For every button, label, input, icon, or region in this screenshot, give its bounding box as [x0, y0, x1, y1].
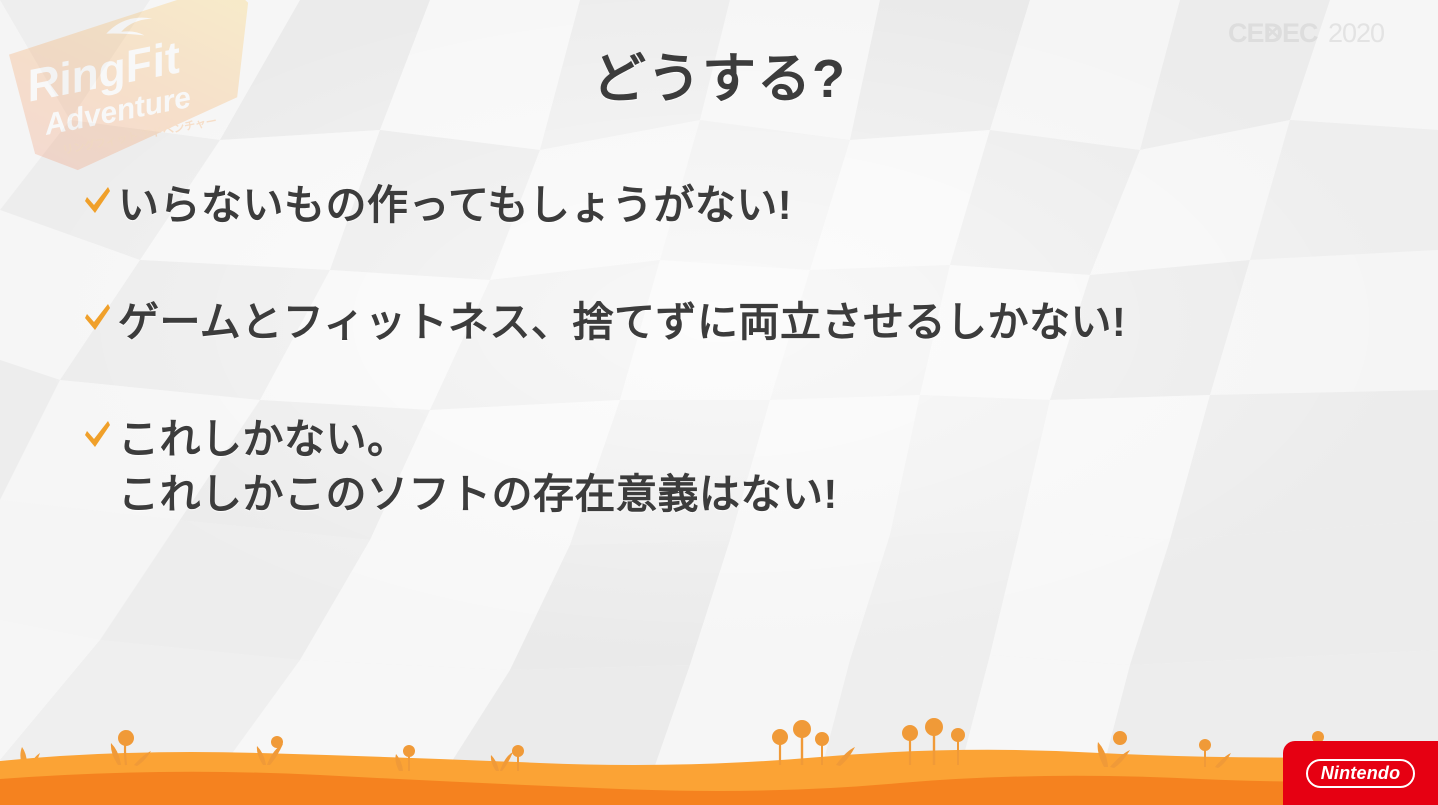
bullet-list: いらないもの作ってもしょうがない! ゲームとフィットネス、捨てずに両立させるしか… — [82, 178, 1378, 522]
cedec-logo-year: 2020 — [1328, 18, 1384, 48]
orange-landscape-decoration — [0, 713, 1438, 805]
bullet-item: いらないもの作ってもしょうがない! — [82, 178, 1378, 233]
nintendo-logo: Nintendo — [1283, 741, 1438, 805]
checkmark-icon — [82, 295, 112, 341]
slide-title: どうする? — [0, 48, 1438, 110]
bullet-item: これしかない。 これしかこのソフトの存在意義はない! — [82, 412, 1378, 522]
checkmark-icon — [82, 178, 112, 224]
nintendo-logo-text: Nintendo — [1306, 759, 1416, 788]
presentation-slide: RingFit Adventure リングフィット アドベンチャー CEDEC … — [0, 0, 1438, 805]
bullet-text: これしかない。 これしかこのソフトの存在意義はない! — [118, 412, 838, 522]
checkmark-icon — [82, 412, 112, 458]
bullet-item: ゲームとフィットネス、捨てずに両立させるしかない! — [82, 295, 1378, 350]
cedec-2020-logo: CEDEC 2020 — [1228, 16, 1418, 50]
bullet-text: いらないもの作ってもしょうがない! — [118, 178, 792, 233]
bullet-text: ゲームとフィットネス、捨てずに両立させるしかない! — [118, 295, 1126, 350]
